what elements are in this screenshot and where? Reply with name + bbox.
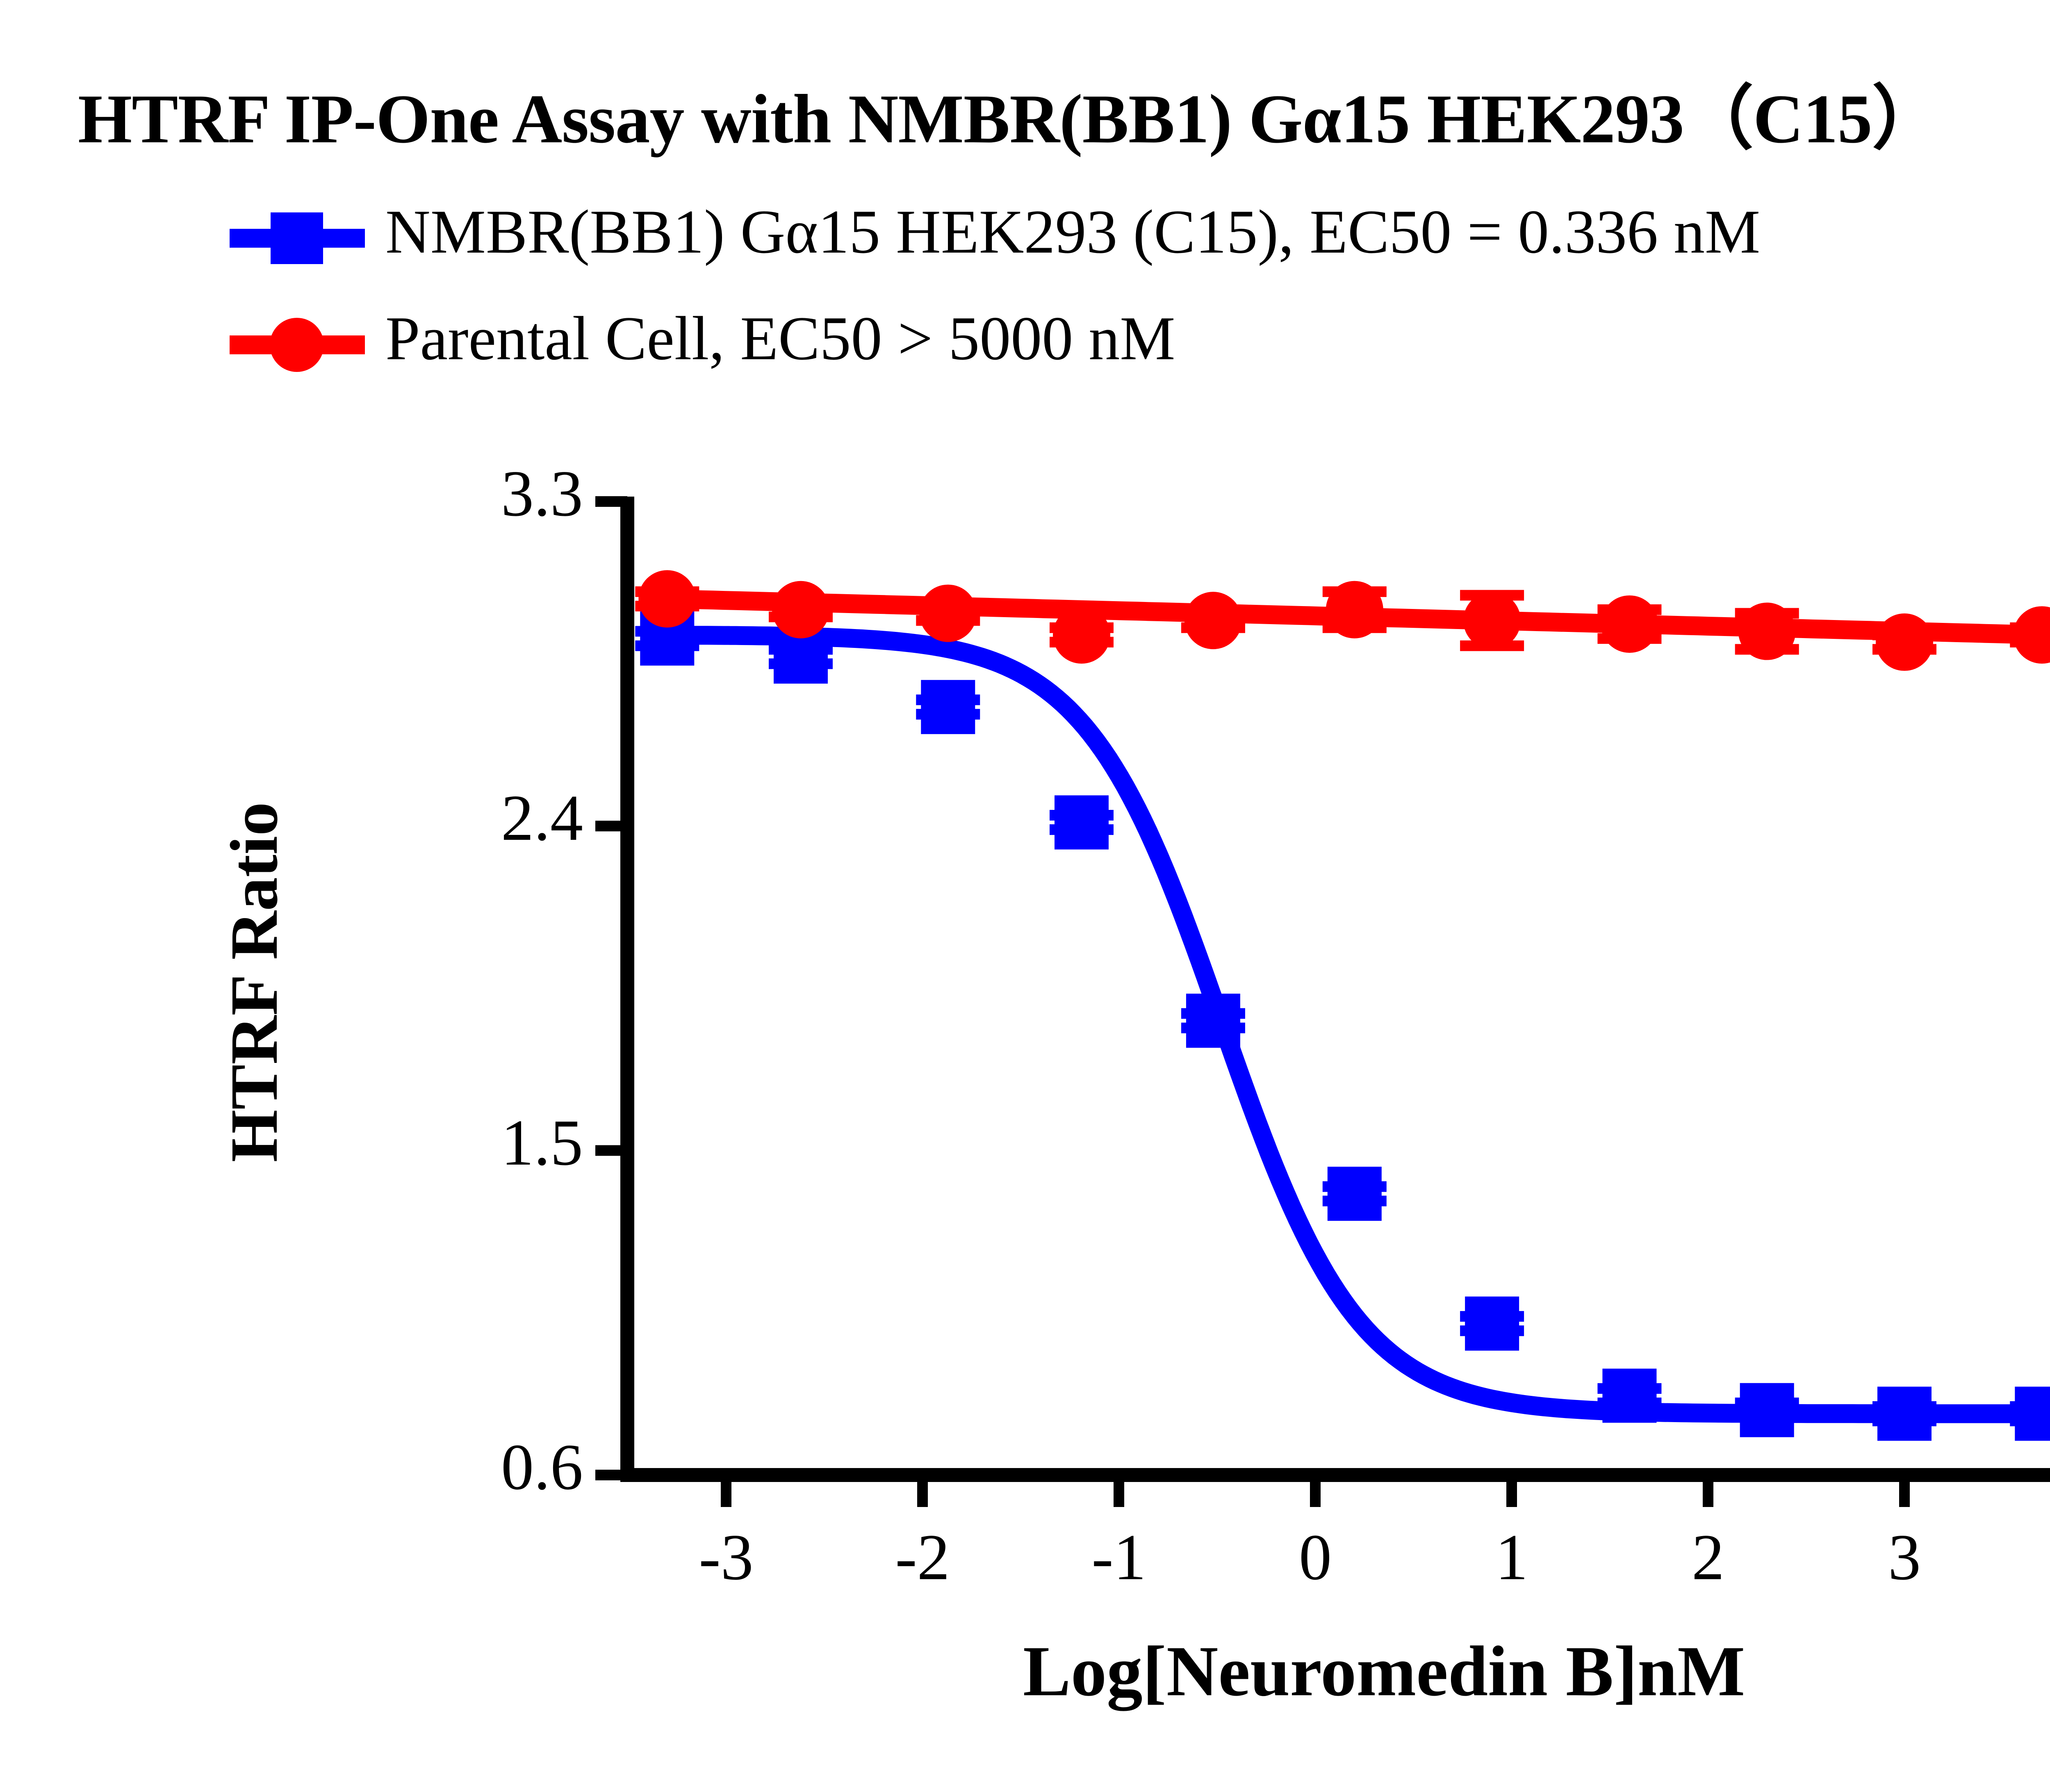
series-red <box>635 570 2050 671</box>
data-point-marker <box>1740 1383 1794 1437</box>
data-point-marker <box>1328 1167 1382 1221</box>
data-point-marker <box>1463 592 1521 649</box>
data-point-marker <box>1326 581 1383 638</box>
data-point-marker <box>1738 603 1796 660</box>
data-point-marker <box>1877 1387 1932 1441</box>
data-point-marker <box>638 570 696 627</box>
data-point-marker <box>1184 592 1242 649</box>
data-point-marker <box>2013 606 2050 663</box>
fit-curve <box>667 635 2042 1414</box>
data-point-marker <box>1601 595 1658 653</box>
data-point-marker <box>1053 606 1110 663</box>
series-blue <box>635 611 2050 1441</box>
data-point-marker <box>1876 613 1933 671</box>
data-point-marker <box>1602 1369 1656 1423</box>
series-layer <box>635 570 2050 1441</box>
data-point-marker <box>1186 994 1240 1048</box>
data-point-marker <box>919 585 977 642</box>
data-point-marker <box>2015 1387 2050 1441</box>
data-point-marker <box>772 581 829 638</box>
chart-page: HTRF IP-One Assay with NMBR(BB1) Gα15 HE… <box>0 0 2050 1792</box>
data-point-marker <box>1055 796 1109 850</box>
data-point-marker <box>1465 1297 1519 1351</box>
plot-area <box>0 0 2050 1792</box>
data-point-marker <box>921 680 975 734</box>
